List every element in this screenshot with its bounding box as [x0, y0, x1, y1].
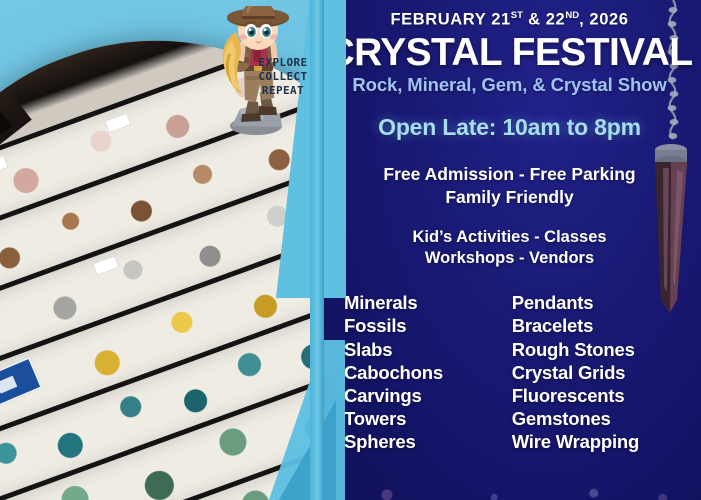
- event-date-ordinal-2: ND: [565, 10, 579, 21]
- bottom-sparkle-decor: [318, 466, 701, 500]
- price-tag: [92, 255, 119, 275]
- list-item: Rough Stones: [512, 338, 683, 361]
- mascot-tagline-line-1: EXPLORE: [252, 56, 314, 70]
- event-date-prefix: FEBRUARY 21: [390, 11, 510, 29]
- event-date-suffix: , 2026: [579, 11, 628, 29]
- offerings-lists: Minerals Fossils Slabs Cabochons Carving…: [318, 291, 701, 453]
- list-item: Towers: [344, 407, 508, 430]
- offerings-left-column: Minerals Fossils Slabs Cabochons Carving…: [344, 291, 508, 453]
- admission-blurb: Free Admission - Free Parking Family Fri…: [318, 163, 701, 208]
- price-tag: [104, 113, 131, 133]
- activities-line-1: Kid’s Activities - Classes: [318, 227, 701, 248]
- info-panel: FEBRUARY 21ST & 22ND, 2026 CRYSTAL FESTI…: [318, 0, 701, 500]
- list-item: Pendants: [512, 291, 683, 314]
- mascot-tagline-line-3: REPEAT: [252, 84, 314, 98]
- admission-line-1: Free Admission - Free Parking: [318, 163, 701, 185]
- crystal-festival-poster: EXPLORE COLLECT REPEAT: [0, 0, 701, 500]
- list-item: Bracelets: [512, 314, 683, 337]
- list-item: Carvings: [344, 384, 508, 407]
- price-tag: [0, 155, 9, 175]
- offerings-right-column: Pendants Bracelets Rough Stones Crystal …: [512, 291, 683, 453]
- panel-content: FEBRUARY 21ST & 22ND, 2026 CRYSTAL FESTI…: [318, 0, 701, 454]
- opening-hours: Open Late: 10am to 8pm: [318, 114, 701, 141]
- list-item: Slabs: [344, 338, 508, 361]
- page-title: CRYSTAL FESTIVAL: [318, 33, 701, 73]
- list-item: Spheres: [344, 430, 508, 453]
- mascot-tagline-line-2: COLLECT: [252, 70, 314, 84]
- list-item: Gemstones: [512, 407, 683, 430]
- list-item: Cabochons: [344, 361, 508, 384]
- list-item: Minerals: [344, 291, 508, 314]
- list-item: Wire Wrapping: [512, 430, 683, 453]
- event-date-ordinal-1: ST: [511, 10, 523, 21]
- page-subtitle: Rock, Mineral, Gem, & Crystal Show: [318, 74, 701, 96]
- activities-blurb: Kid’s Activities - Classes Workshops - V…: [318, 227, 701, 269]
- event-date-mid: & 22: [523, 11, 565, 29]
- mascot-tagline: EXPLORE COLLECT REPEAT: [252, 56, 314, 98]
- list-item: Fossils: [344, 314, 508, 337]
- list-item: Fluorescents: [512, 384, 683, 407]
- event-date: FEBRUARY 21ST & 22ND, 2026: [318, 10, 701, 30]
- list-item: Crystal Grids: [512, 361, 683, 384]
- admission-line-2: Family Friendly: [318, 186, 701, 208]
- activities-line-2: Workshops - Vendors: [318, 248, 701, 269]
